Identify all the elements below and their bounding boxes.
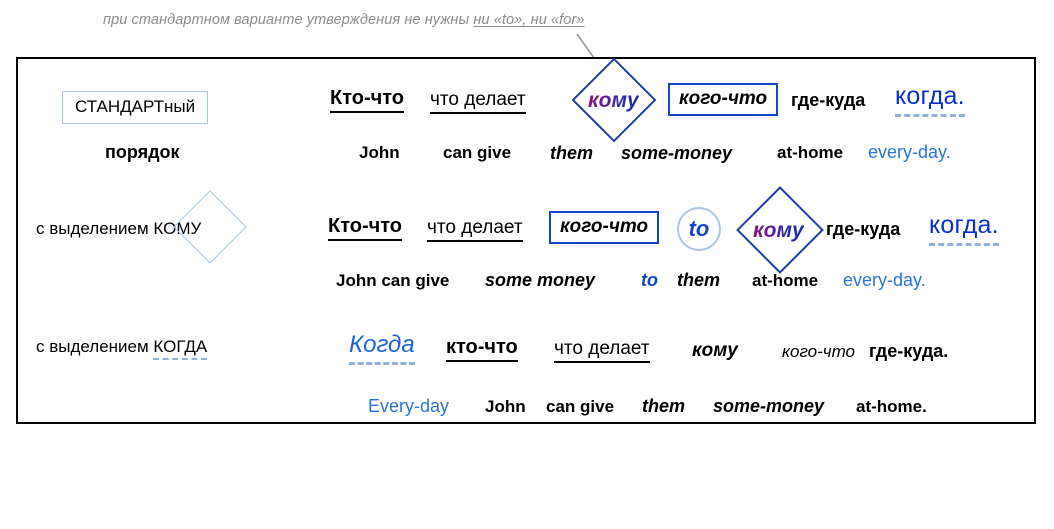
row1-kogo-chto: кого-что xyxy=(679,88,767,109)
caption-lead-text: при стандартном варианте утверждения не … xyxy=(103,12,473,28)
row1-en-verb: can give xyxy=(443,143,511,163)
row2-kogda: когда. xyxy=(929,211,999,246)
row3-en-place: at-home. xyxy=(856,397,927,417)
row2-en-to: to xyxy=(641,270,658,291)
standard-order-box: СТАНДАРТный xyxy=(62,91,208,124)
row2-to-circle: to xyxy=(677,207,721,251)
row2-komu-text: кому xyxy=(753,219,804,243)
row3-komu: кому xyxy=(692,340,738,362)
row2-gde-kuda: где-куда xyxy=(826,219,900,240)
diagram-frame: СТАНДАРТный порядок Кто-что что делает к… xyxy=(16,57,1036,424)
row2-kogo-chto: кого-что xyxy=(560,216,648,237)
row2-en-subject-verb: John can give xyxy=(336,271,449,291)
caption-underlined-text: ни «to», ни «for» xyxy=(473,12,584,28)
row3-label-key: КОГДА xyxy=(153,337,207,360)
row2-to-text: to xyxy=(689,216,710,242)
row3-label-prefix: с выделением xyxy=(36,337,153,356)
row1-kto-chto: Кто-что xyxy=(330,87,404,113)
row3-en-verb: can give xyxy=(546,397,614,417)
row3-en-subject: John xyxy=(485,397,526,417)
row2-kogo-chto-box: кого-что xyxy=(549,211,659,244)
row1-kogda: когда. xyxy=(895,82,965,117)
row2-kto-chto: Кто-что xyxy=(328,215,402,241)
row2-en-time: every-day. xyxy=(843,270,926,291)
row3-gde-kuda: где-куда. xyxy=(869,341,948,362)
row3-en-time: Every-day xyxy=(368,396,449,417)
row2-en-place: at-home xyxy=(752,271,818,291)
row3-kogda: Когда xyxy=(349,331,415,365)
row3-en-direct: some-money xyxy=(713,396,824,417)
row3-kogo-chto: кого-что xyxy=(782,342,855,362)
row2-komu-light-diamond xyxy=(173,190,247,264)
row1-en-time: every-day. xyxy=(868,142,951,163)
row3-en-indirect: them xyxy=(642,396,685,417)
row2-en-direct: some money xyxy=(485,270,595,291)
row3-kto-chto: кто-что xyxy=(446,336,518,362)
row3-label: с выделением КОГДА xyxy=(36,337,207,357)
standard-order-sublabel: порядок xyxy=(105,142,180,163)
row1-en-subject: John xyxy=(359,143,400,163)
top-caption: при стандартном варианте утверждения не … xyxy=(103,12,585,28)
row1-chto-delaet: что делает xyxy=(430,89,526,114)
row2-label-prefix: с выделением xyxy=(36,219,153,238)
standard-order-label: СТАНДАРТный xyxy=(75,97,195,116)
row1-en-direct: some-money xyxy=(621,143,732,164)
row3-chto-delaet: что делает xyxy=(554,338,650,363)
row1-kogo-chto-box: кого-что xyxy=(668,83,778,116)
row1-gde-kuda: где-куда xyxy=(791,90,865,111)
row2-en-indirect: them xyxy=(677,270,720,291)
row1-en-place: at-home xyxy=(777,143,843,163)
row2-chto-delaet: что делает xyxy=(427,217,523,242)
row1-en-indirect: them xyxy=(550,143,593,164)
row1-komu-text: кому xyxy=(588,89,639,113)
